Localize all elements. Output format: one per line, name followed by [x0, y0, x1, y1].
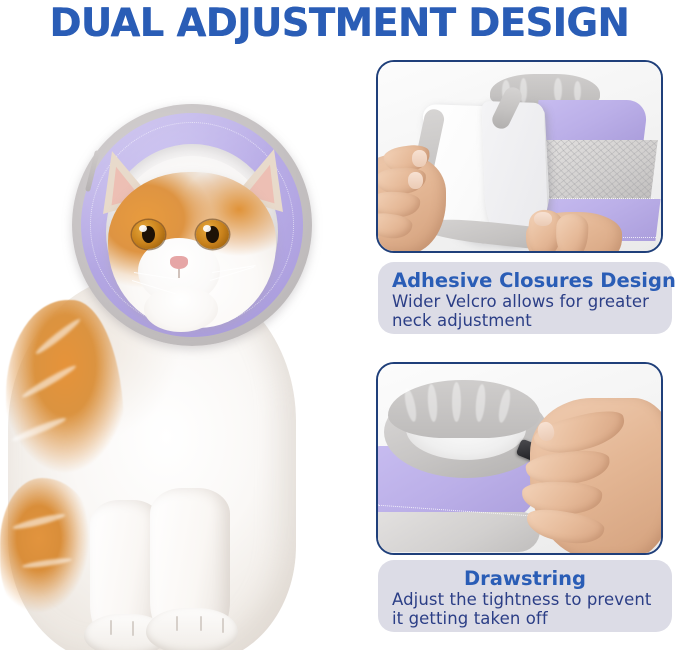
fingernail: [408, 172, 423, 189]
caption-title-drawstring: Drawstring: [392, 568, 658, 589]
feature-photo-adhesive-closures: [376, 60, 663, 253]
fingernail: [412, 150, 427, 167]
caption-drawstring: Drawstring Adjust the tightness to preve…: [378, 560, 672, 632]
cat-eye-glint-left: [139, 225, 147, 232]
page-title: DUAL ADJUSTMENT DESIGN: [50, 4, 630, 43]
cat-eye-glint-right: [203, 225, 211, 232]
cat-illustration: [0, 48, 360, 650]
paw-toe-line: [222, 618, 224, 633]
cat-eye-left: [132, 220, 165, 249]
collar-purple-band-upper: [533, 100, 648, 142]
cat-head: [92, 146, 292, 336]
collar-lower-grey-band: [376, 512, 540, 552]
fingernail: [534, 212, 552, 226]
photo-adhesive-closures: [378, 62, 661, 251]
finger: [555, 213, 589, 253]
cat-ginger-patch-lower: [0, 478, 92, 628]
fabric-fold: [574, 81, 581, 102]
cat-mouth: [178, 269, 180, 278]
paw-toe-line: [200, 616, 202, 631]
cat-paw-right: [146, 608, 238, 650]
hero-photo-cat-wearing-collar: [0, 48, 360, 650]
paw-toe-line: [110, 620, 112, 635]
paw-toe-line: [132, 621, 134, 636]
feature-photo-drawstring: [376, 362, 663, 555]
caption-body-drawstring: Adjust the tightness to prevent it getti…: [392, 591, 658, 629]
paw-toe-line: [176, 616, 178, 631]
fabric-fold: [554, 78, 562, 102]
caption-body-adhesive-closures: Wider Velcro allows for greater neck adj…: [392, 293, 658, 331]
cat-eye-right: [196, 220, 229, 249]
headline-banner: DUAL ADJUSTMENT DESIGN: [0, 0, 679, 46]
photo-drawstring: [378, 364, 661, 553]
caption-adhesive-closures: Adhesive Closures Design Wider Velcro al…: [378, 262, 672, 334]
cat-nose: [170, 256, 188, 269]
fabric-fold: [452, 382, 461, 422]
product-infographic: DUAL ADJUSTMENT DESIGN: [0, 0, 679, 650]
caption-title-adhesive-closures: Adhesive Closures Design: [392, 270, 658, 291]
cat-chin-fluff: [144, 286, 218, 332]
